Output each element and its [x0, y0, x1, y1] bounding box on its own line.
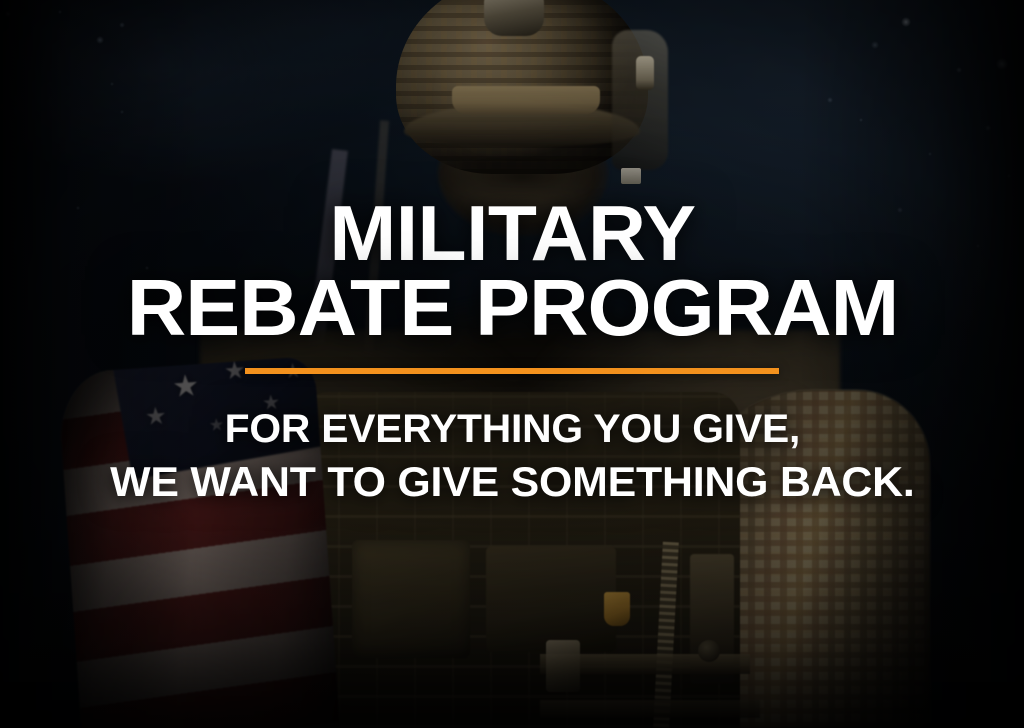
- military-rebate-banner: MILITARY REBATE PROGRAM FOR EVERYTHING Y…: [0, 0, 1024, 728]
- banner-content: MILITARY REBATE PROGRAM FOR EVERYTHING Y…: [0, 0, 1024, 728]
- subheadline-line-1: FOR EVERYTHING YOU GIVE,: [110, 404, 914, 455]
- page-subtitle: FOR EVERYTHING YOU GIVE, WE WANT TO GIVE…: [110, 374, 914, 509]
- subheadline-line-2: WE WANT TO GIVE SOMETHING BACK.: [110, 455, 914, 509]
- page-title: MILITARY REBATE PROGRAM: [126, 0, 897, 346]
- headline-line-1: MILITARY: [126, 196, 897, 270]
- headline-line-2: REBATE PROGRAM: [126, 270, 897, 346]
